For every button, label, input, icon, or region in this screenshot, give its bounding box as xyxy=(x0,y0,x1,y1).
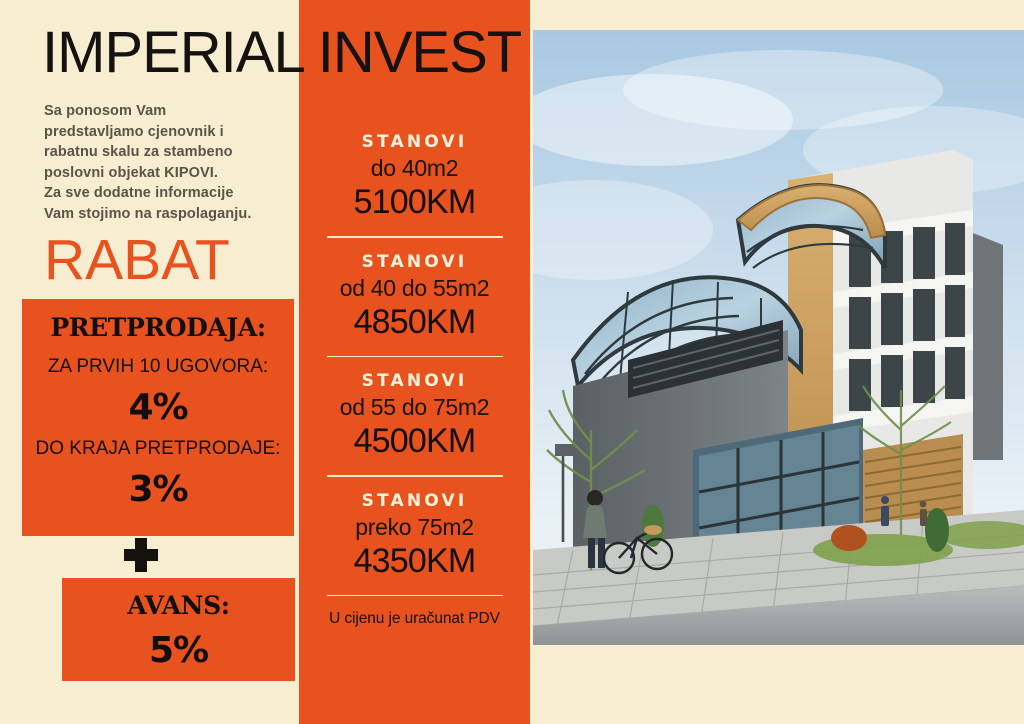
plus-icon xyxy=(124,538,158,572)
price-item-size: od 40 do 55m2 xyxy=(299,275,530,302)
presale-second-label: DO KRAJA PRETPRODAJE: xyxy=(22,438,294,460)
price-item-head: STANOVI xyxy=(299,371,530,391)
price-item-size: od 55 do 75m2 xyxy=(299,394,530,421)
price-item-cost: 5100KM xyxy=(299,183,530,222)
intro-line-6: Vam stojimo na raspolaganju. xyxy=(44,204,296,225)
page-title: IMPERIAL INVEST xyxy=(42,22,521,84)
price-item-cost: 4850KM xyxy=(299,303,530,342)
presale-first-label: ZA PRVIH 10 UGOVORA: xyxy=(22,356,294,378)
price-item: STANOVI preko 75m2 4350KM xyxy=(299,491,530,581)
advance-value: 5% xyxy=(62,630,295,671)
price-item: STANOVI od 40 do 55m2 4850KM xyxy=(299,252,530,342)
price-list: STANOVI do 40m2 5100KM STANOVI od 40 do … xyxy=(299,132,530,628)
presale-second-value: 3% xyxy=(22,469,294,510)
advance-title: AVANS: xyxy=(62,591,295,620)
price-divider xyxy=(327,356,503,358)
price-divider xyxy=(327,595,503,597)
flyer-page: IMPERIAL INVEST Sa ponosom Vam predstavl… xyxy=(0,0,1024,724)
rabat-heading: RABAT xyxy=(44,230,230,290)
price-item-cost: 4350KM xyxy=(299,542,530,581)
title-part-imperial: IMPERIAL xyxy=(42,20,303,85)
price-item-size: do 40m2 xyxy=(299,155,530,182)
intro-line-2: predstavljamo cjenovnik i xyxy=(44,122,296,143)
price-item: STANOVI do 40m2 5100KM xyxy=(299,132,530,222)
presale-title: PRETPRODAJA: xyxy=(22,313,294,342)
intro-line-4: poslovni objekat KIPOVI. xyxy=(44,163,296,184)
intro-line-3: rabatnu skalu za stambeno xyxy=(44,142,296,163)
price-item-size: preko 75m2 xyxy=(299,514,530,541)
intro-line-5: Za sve dodatne informacije xyxy=(44,183,296,204)
intro-paragraph: Sa ponosom Vam predstavljamo cjenovnik i… xyxy=(44,101,296,224)
price-item-head: STANOVI xyxy=(299,132,530,152)
advance-discount-box: AVANS: 5% xyxy=(62,578,295,681)
presale-first-value: 4% xyxy=(22,387,294,428)
title-part-invest: INVEST xyxy=(318,20,522,85)
intro-line-1: Sa ponosom Vam xyxy=(44,101,296,122)
price-item-cost: 4500KM xyxy=(299,422,530,461)
price-item-head: STANOVI xyxy=(299,491,530,511)
building-photo xyxy=(533,30,1024,645)
price-divider xyxy=(327,475,503,477)
price-divider xyxy=(327,236,503,238)
building-illustration xyxy=(533,30,1024,645)
price-item-head: STANOVI xyxy=(299,252,530,272)
vat-note: U cijenu je uračunat PDV xyxy=(299,610,530,628)
presale-discount-box: PRETPRODAJA: ZA PRVIH 10 UGOVORA: 4% DO … xyxy=(22,299,294,536)
price-item: STANOVI od 55 do 75m2 4500KM xyxy=(299,371,530,461)
